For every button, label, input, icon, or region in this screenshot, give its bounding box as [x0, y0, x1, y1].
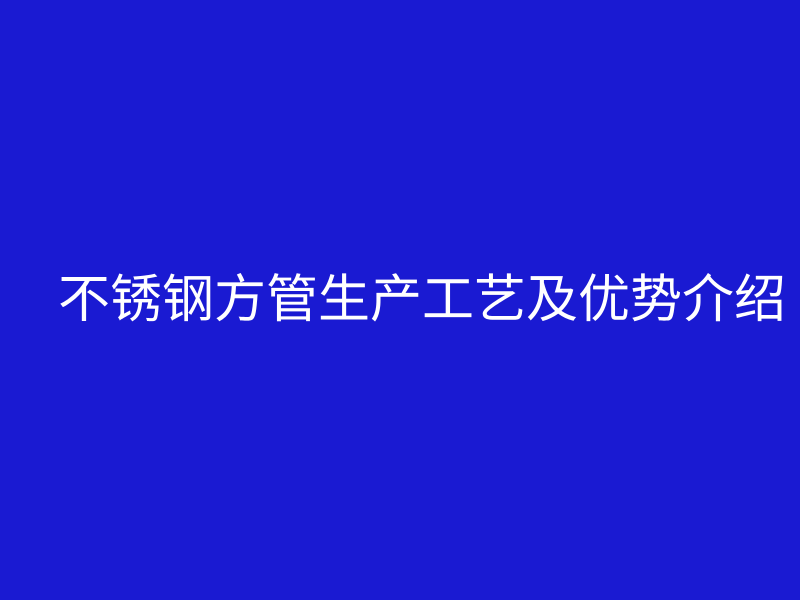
title-card-canvas: 不锈钢方管生产工艺及优势介绍	[0, 0, 800, 600]
headline-text: 不锈钢方管生产工艺及优势介绍	[0, 274, 786, 326]
headline-container: 不锈钢方管生产工艺及优势介绍	[0, 0, 800, 600]
